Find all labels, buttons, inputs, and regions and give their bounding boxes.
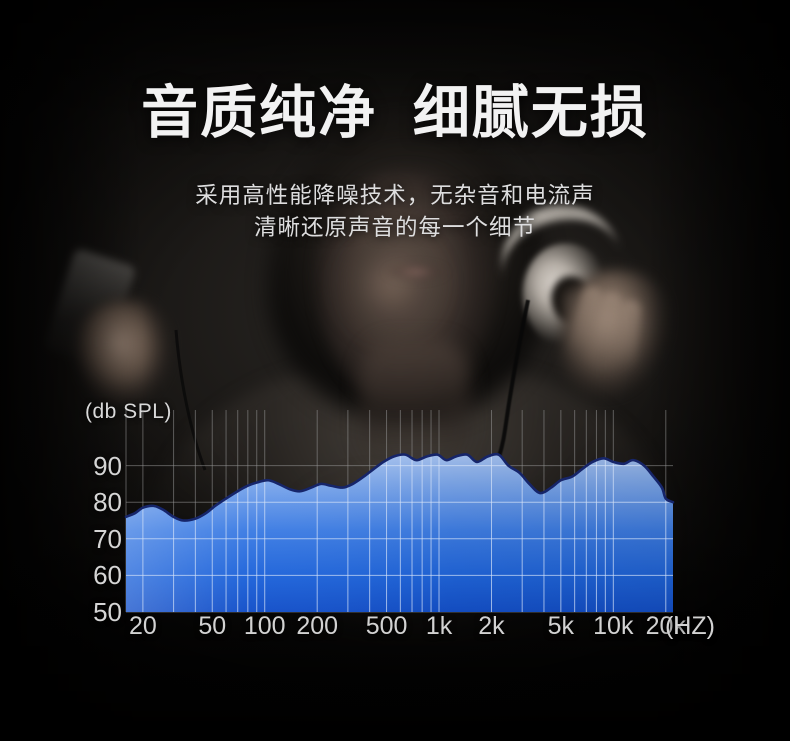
x-tick-100: 100 — [244, 614, 286, 639]
x-tick-10k: 10k — [593, 614, 633, 639]
y-tick-80: 80 — [93, 489, 122, 515]
x-axis-tick-labels: 20501002005001k2k5k10k20k(HZ) — [60, 614, 760, 648]
page-subtitle-line1: 采用高性能降噪技术，无杂音和电流声 — [0, 180, 790, 212]
frequency-response-chart: (db SPL) 5060708090 20501002005001k2k5k1… — [60, 398, 760, 648]
x-tick-5k: 5k — [548, 614, 574, 639]
x-tick-2k: 2k — [478, 614, 504, 639]
y-tick-70: 70 — [93, 526, 122, 552]
page-subtitle-line2: 清晰还原声音的每一个细节 — [0, 212, 790, 244]
y-tick-60: 60 — [93, 562, 122, 588]
y-axis-tick-labels: 5060708090 — [60, 398, 122, 648]
chart-plot-area — [126, 440, 673, 612]
x-tick-1k: 1k — [426, 614, 452, 639]
y-tick-90: 90 — [93, 453, 122, 479]
x-tick-50: 50 — [198, 614, 226, 639]
x-tick-20: 20 — [129, 614, 157, 639]
page-subtitle: 采用高性能降噪技术，无杂音和电流声 清晰还原声音的每一个细节 — [0, 180, 790, 244]
product-banner: 音质纯净 细腻无损 采用高性能降噪技术，无杂音和电流声 清晰还原声音的每一个细节… — [0, 0, 790, 741]
x-tick-200: 200 — [296, 614, 338, 639]
x-axis-unit-label: (HZ) — [665, 614, 715, 639]
page-title: 音质纯净 细腻无损 — [0, 84, 790, 144]
x-tick-500: 500 — [366, 614, 408, 639]
